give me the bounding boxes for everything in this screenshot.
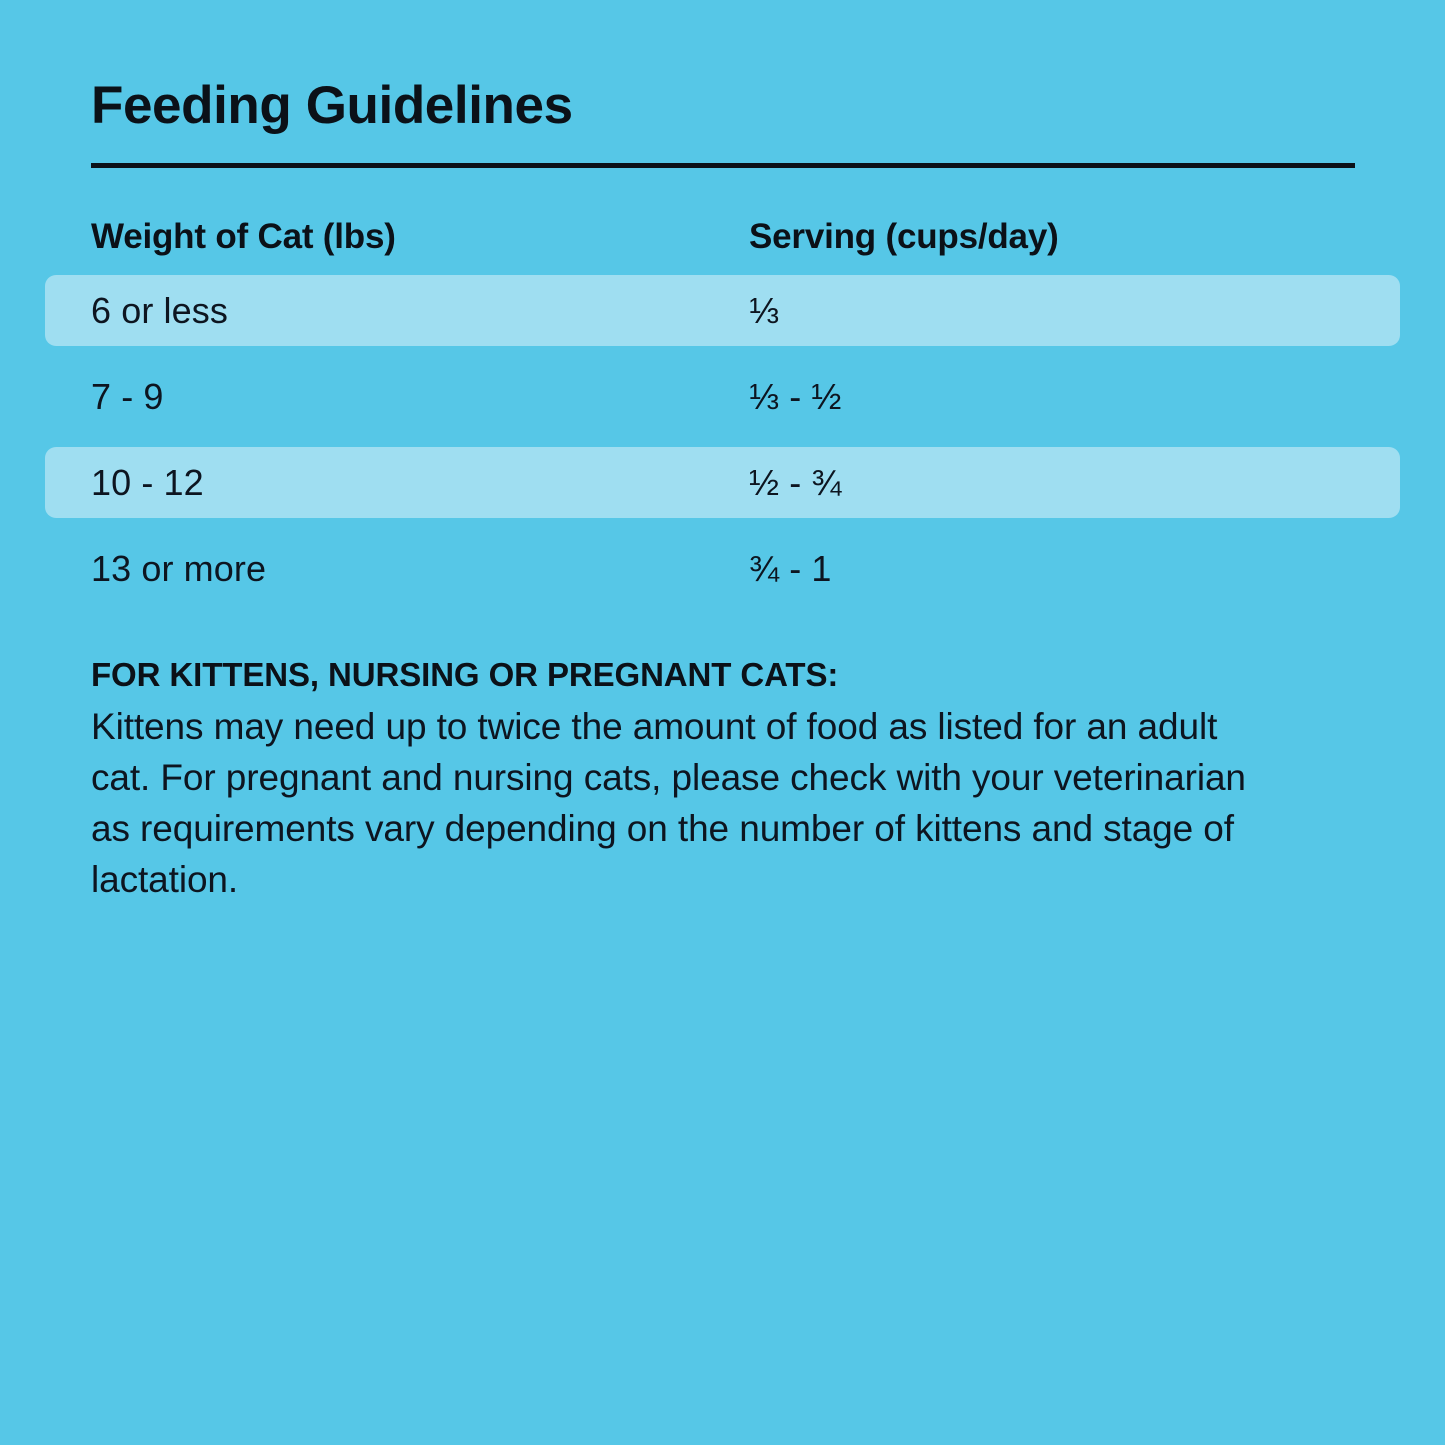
row-highlight-band <box>45 275 1400 346</box>
cell-weight: 7 - 9 <box>91 367 164 427</box>
cell-serving: ¾ - 1 <box>749 539 832 599</box>
row-highlight-band <box>45 447 1400 518</box>
table-body: 6 or less ⅓ 7 - 9 ⅓ - ½ 10 - 12 ½ - ¾ 13… <box>0 275 1445 619</box>
kitten-note-heading: FOR KITTENS, NURSING OR PREGNANT CATS: <box>91 655 1286 695</box>
table-row: 10 - 12 ½ - ¾ <box>0 447 1445 533</box>
table-row: 6 or less ⅓ <box>0 275 1445 361</box>
cell-serving: ½ - ¾ <box>749 453 842 513</box>
cell-weight: 13 or more <box>91 539 266 599</box>
feeding-guidelines-panel: Feeding Guidelines Weight of Cat (lbs) S… <box>0 0 1445 1445</box>
table-header-row: Weight of Cat (lbs) Serving (cups/day) <box>0 203 1445 275</box>
table-row: 7 - 9 ⅓ - ½ <box>0 361 1445 447</box>
kitten-note: FOR KITTENS, NURSING OR PREGNANT CATS: K… <box>91 655 1286 905</box>
page-title: Feeding Guidelines <box>91 78 573 134</box>
column-header-weight: Weight of Cat (lbs) <box>91 217 396 257</box>
kitten-note-body: Kittens may need up to twice the amount … <box>91 701 1286 905</box>
cell-weight: 6 or less <box>91 281 228 341</box>
feeding-table: Weight of Cat (lbs) Serving (cups/day) 6… <box>0 203 1445 619</box>
cell-serving: ⅓ - ½ <box>749 367 842 427</box>
cell-weight: 10 - 12 <box>91 453 204 513</box>
table-row: 13 or more ¾ - 1 <box>0 533 1445 619</box>
row-highlight-band <box>45 361 1400 432</box>
cell-serving: ⅓ <box>749 281 779 341</box>
title-divider <box>91 163 1355 168</box>
column-header-serving: Serving (cups/day) <box>749 217 1059 257</box>
